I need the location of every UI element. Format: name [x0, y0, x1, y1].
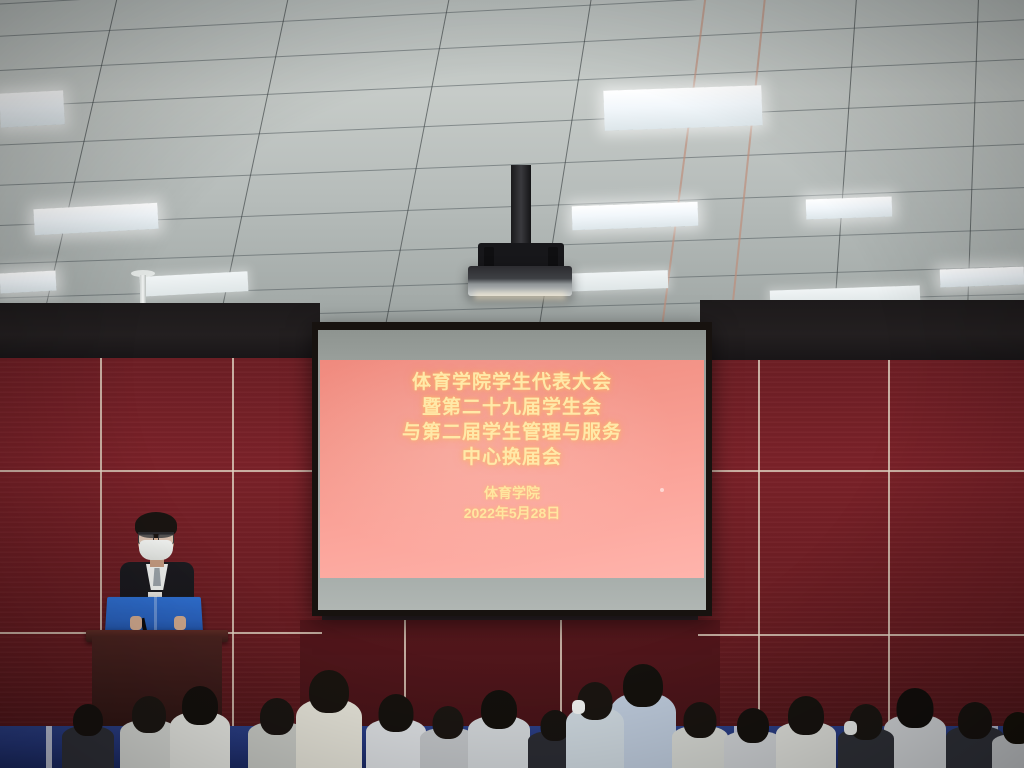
face-mask-icon [139, 540, 173, 560]
screen-speck [660, 488, 664, 492]
audience-member-head [788, 696, 824, 735]
audience-member-head [73, 704, 103, 736]
slide-date: 2022年5月28日 [464, 504, 561, 523]
ceiling-seam-runner [827, 0, 861, 332]
ceiling-seam-horizontal [0, 0, 1024, 41]
audience-member-head [684, 702, 717, 738]
ceiling-seam-horizontal [0, 96, 1024, 149]
ceiling-light-panel [603, 85, 762, 130]
face-mask-icon [572, 700, 585, 714]
wall-panel-seam [232, 358, 234, 768]
slide-organization: 体育学院 [484, 484, 540, 503]
audience-member-head [433, 706, 464, 739]
chair-divider [46, 726, 52, 768]
wall-panel-seam [698, 634, 1024, 636]
ceiling-seam-horizontal [0, 0, 1024, 9]
audience-member [566, 682, 624, 768]
wall-header-band-left [0, 303, 320, 361]
audience-member [170, 686, 230, 768]
ceiling-light-panel [572, 202, 699, 230]
wall-panel-seam [0, 470, 322, 472]
ceiling-light-panel [560, 270, 669, 292]
audience-member [776, 696, 836, 768]
audience-member-head [897, 688, 934, 728]
audience-member [724, 708, 782, 768]
conference-hall-photo: 体育学院学生代表大会 暨第二十九届学生会 与第二届学生管理与服务 中心换届会 体… [0, 0, 1024, 768]
face-mask-icon [844, 721, 857, 735]
slide-title-line-3: 与第二届学生管理与服务 [402, 420, 622, 445]
audience-member [62, 704, 114, 768]
ceiling-light-panel [806, 197, 893, 220]
ceiling-light-panel [0, 271, 56, 294]
audience-member-head [260, 698, 294, 735]
slide-title-line-2: 暨第二十九届学生会 [422, 395, 602, 420]
ceiling-light-panel [0, 90, 65, 127]
audience-member-head [1003, 712, 1024, 744]
audience-member-head [182, 686, 218, 725]
audience-member-head [481, 690, 517, 729]
audience-member [296, 670, 362, 768]
audience-member-head [623, 664, 663, 707]
projected-slide: 体育学院学生代表大会 暨第二十九届学生会 与第二届学生管理与服务 中心换届会 体… [320, 360, 704, 578]
audience-member-head [132, 696, 166, 733]
wall-header-band-right [700, 300, 1024, 362]
audience-member [838, 704, 894, 768]
audience-member-head [379, 694, 414, 732]
slide-text-block: 体育学院学生代表大会 暨第二十九届学生会 与第二届学生管理与服务 中心换届会 体… [320, 360, 704, 578]
wall-panel-seam [698, 470, 1024, 472]
audience-member [468, 690, 530, 768]
audience-member-head [309, 670, 349, 713]
ceiling-seam-runner [721, 0, 772, 332]
slide-title-line-4: 中心换届会 [462, 445, 562, 470]
audience-member-head [737, 708, 769, 743]
speaker-right-hand [174, 616, 186, 630]
ceiling-light-panel [940, 267, 1024, 288]
projector-lens-glow [474, 292, 566, 300]
audience-member [672, 702, 728, 768]
ceiling-light-panel [33, 203, 158, 235]
speaker-left-hand [130, 616, 142, 630]
slide-title-line-1: 体育学院学生代表大会 [412, 370, 612, 395]
ceiling-light-panel [140, 271, 249, 297]
audience-member [366, 694, 426, 768]
wall-panel-seam [758, 360, 760, 768]
audience-member-head [958, 702, 992, 739]
audience-member [992, 712, 1024, 768]
